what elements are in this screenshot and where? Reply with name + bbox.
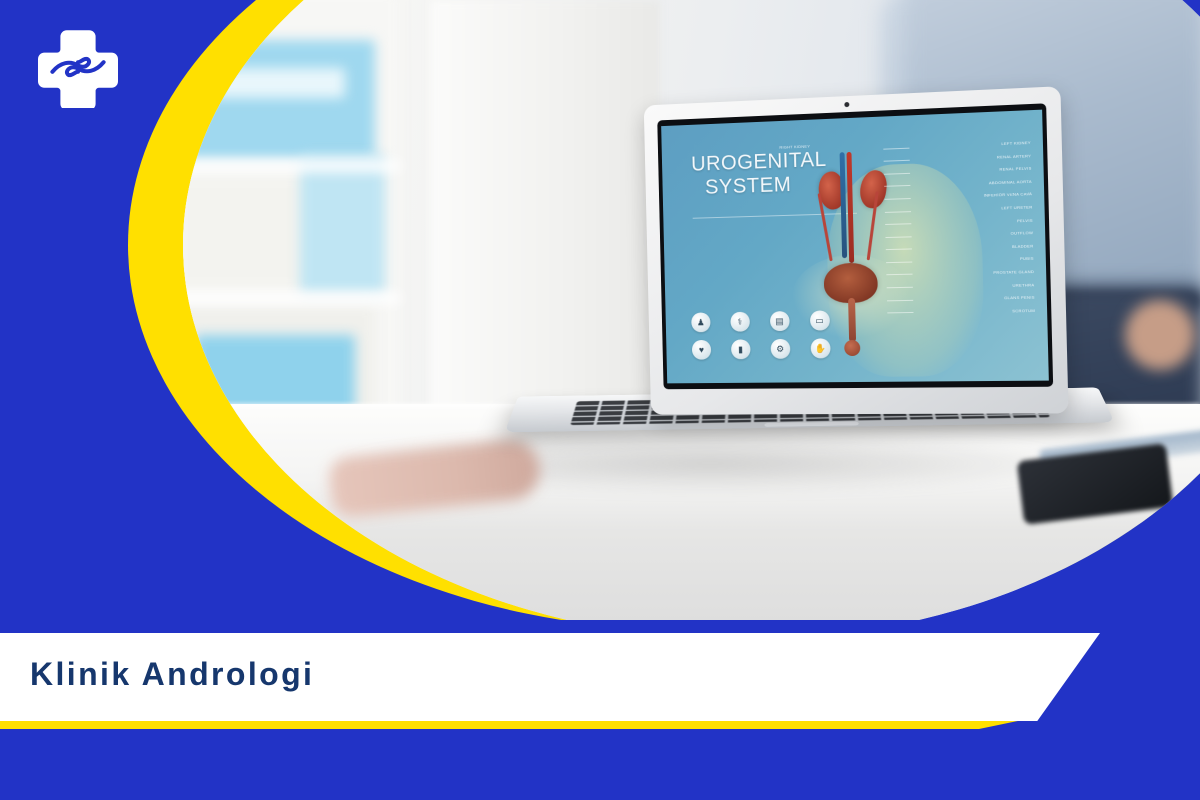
anatomy-label: LEFT URETER — [914, 204, 1032, 213]
webcam-icon — [844, 102, 849, 107]
laptop: UROGENITAL SYSTEM RIGHT KIDNEY — [520, 96, 1100, 456]
screen-title-line1: UROGENITAL — [691, 148, 827, 176]
shelf-box-blue-2 — [300, 155, 385, 295]
hand-icon: ✋ — [810, 339, 830, 359]
person-hand — [1125, 300, 1195, 370]
bottom-banner: Klinik Andrologi — [0, 620, 1200, 800]
anatomy-label: RENAL PELVIS — [913, 166, 1031, 175]
shelf-divider-1 — [183, 160, 400, 172]
laptop-trackpad — [764, 422, 859, 427]
anatomy-label: GLANS PENIS — [916, 295, 1034, 302]
shelf-box-label-1 — [205, 68, 345, 98]
book-icon: ▮ — [731, 340, 751, 360]
microscope-icon: ⚙ — [770, 339, 790, 359]
glans — [844, 340, 860, 356]
shelf-box-blue-1 — [183, 40, 375, 160]
urethra — [848, 297, 856, 342]
anatomy-label: BLADDER — [915, 243, 1033, 251]
anatomy-label: URETHRA — [916, 282, 1034, 289]
clinic-photo: UROGENITAL SYSTEM RIGHT KIDNEY — [183, 0, 1200, 620]
laptop-lid: UROGENITAL SYSTEM RIGHT KIDNEY — [644, 86, 1069, 414]
shelf-divider-2 — [183, 292, 400, 304]
anatomy-label: LEFT KIDNEY — [913, 140, 1031, 150]
laptop-bezel: UROGENITAL SYSTEM RIGHT KIDNEY — [657, 103, 1053, 389]
anatomy-label: PROSTATE GLAND — [916, 269, 1034, 277]
clinic-logo — [38, 26, 118, 108]
screen-title: UROGENITAL SYSTEM — [691, 148, 828, 201]
anatomy-label: PELVIS — [915, 217, 1033, 225]
laptop-screen: UROGENITAL SYSTEM RIGHT KIDNEY — [661, 110, 1049, 384]
shelf-box-blue-3 — [195, 335, 355, 415]
person-icon: ♟ — [691, 313, 711, 333]
stethoscope-icon: ⚕ — [730, 312, 750, 332]
anatomy-label: INFERIOR VENA CAVA — [914, 191, 1032, 200]
photo-ellipse-mask: UROGENITAL SYSTEM RIGHT KIDNEY — [183, 0, 1200, 620]
page-title: Klinik Andrologi — [30, 656, 314, 693]
hero-photo-region: UROGENITAL SYSTEM RIGHT KIDNEY — [0, 0, 1200, 620]
screen-icon-grid: ♟⚕▤▭♥▮⚙✋ — [691, 310, 841, 360]
screen-title-line2: SYSTEM — [691, 172, 827, 201]
anatomy-label: RENAL ARTERY — [913, 153, 1031, 162]
clipboard-icon: ▤ — [770, 311, 790, 331]
anatomy-label: SCROTUM — [917, 308, 1035, 315]
heart-icon: ♥ — [692, 340, 712, 360]
anatomy-label-column: LEFT KIDNEYRENAL ARTERYRENAL PELVISABDOM… — [913, 140, 1036, 322]
anatomy-label: ABDOMINAL AORTA — [914, 179, 1032, 188]
bed-icon: ▭ — [809, 311, 829, 331]
anatomy-label: PUBIS — [916, 256, 1034, 264]
promo-banner-card: UROGENITAL SYSTEM RIGHT KIDNEY — [0, 0, 1200, 800]
title-rule — [692, 213, 856, 219]
anatomy-label: OUTFLOW — [915, 230, 1033, 238]
